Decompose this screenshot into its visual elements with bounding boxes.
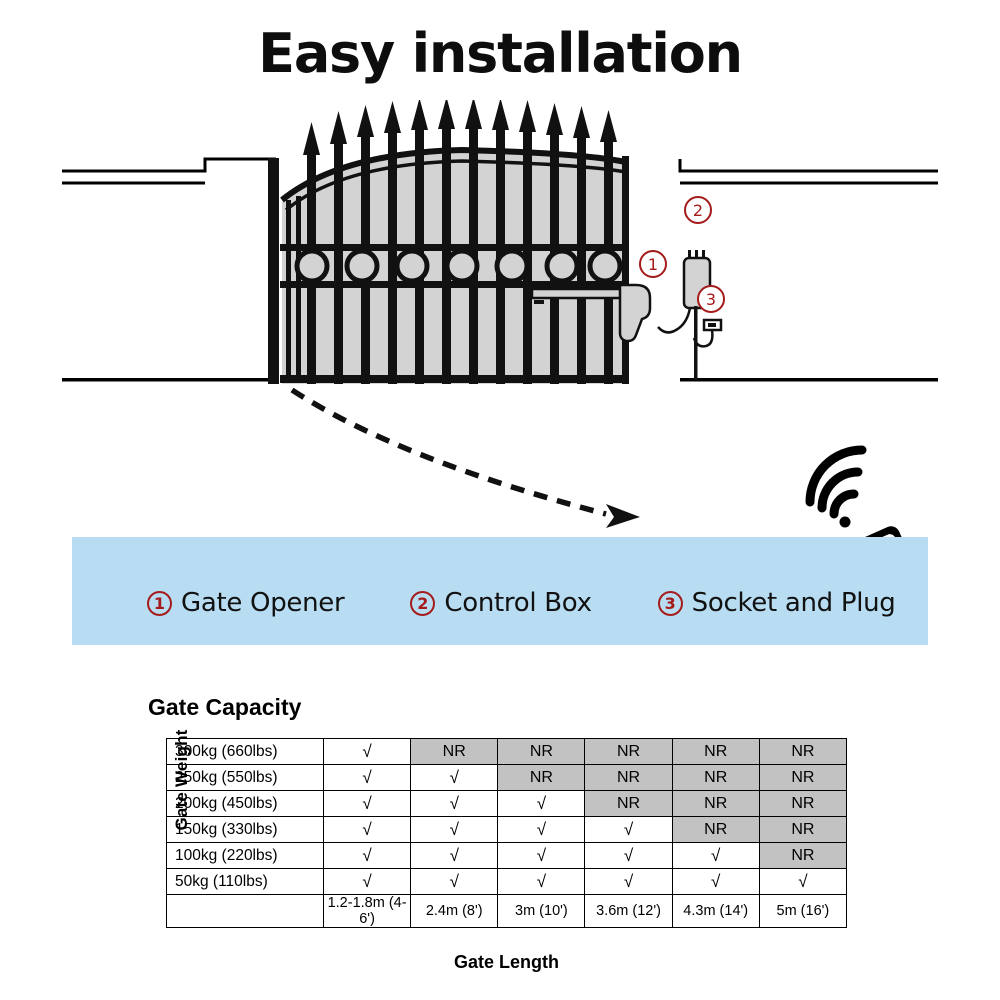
- legend-item-control-box: 2 Control Box: [410, 588, 591, 618]
- cell-supported: √: [411, 765, 498, 791]
- cell-supported: √: [324, 843, 411, 869]
- cell-supported: √: [498, 791, 585, 817]
- cell-not-recommended: NR: [585, 765, 672, 791]
- cell-not-recommended: NR: [498, 739, 585, 765]
- cell-supported: √: [324, 739, 411, 765]
- column-header-cell: 4.3m (14'): [672, 895, 759, 928]
- wireless-signal-icon: [810, 450, 862, 528]
- cell-supported: √: [411, 869, 498, 895]
- legend-row: 1 Gate Opener 2 Control Box 3 Socket and…: [72, 583, 928, 623]
- legend-item-gate-opener: 1 Gate Opener: [147, 588, 344, 618]
- cell-supported: √: [324, 869, 411, 895]
- cell-not-recommended: NR: [672, 765, 759, 791]
- row-header-cell: 50kg (110lbs): [167, 869, 324, 895]
- cell-supported: √: [498, 869, 585, 895]
- cell-supported: √: [324, 817, 411, 843]
- cell-not-recommended: NR: [759, 791, 846, 817]
- table-row: 100kg (220lbs)√√√√√NR: [167, 843, 847, 869]
- cell-supported: √: [324, 765, 411, 791]
- right-wall: [680, 159, 938, 183]
- cell-not-recommended: NR: [759, 739, 846, 765]
- table-row: 300kg (660lbs)√NRNRNRNRNR: [167, 739, 847, 765]
- x-axis-label: Gate Length: [166, 952, 847, 973]
- gate-panel: [280, 100, 629, 384]
- legend-label-3: Socket and Plug: [692, 588, 896, 618]
- cell-not-recommended: NR: [411, 739, 498, 765]
- cell-supported: √: [498, 843, 585, 869]
- table-row: 50kg (110lbs)√√√√√√: [167, 869, 847, 895]
- legend-number-3: 3: [658, 591, 683, 616]
- table-body: 300kg (660lbs)√NRNRNRNRNR250kg (550lbs)√…: [167, 739, 847, 928]
- column-header-cell: 3.6m (12'): [585, 895, 672, 928]
- cell-not-recommended: NR: [498, 765, 585, 791]
- cell-supported: √: [672, 843, 759, 869]
- column-header-cell: 2.4m (8'): [411, 895, 498, 928]
- remote-control-icon: [810, 450, 985, 540]
- table-title: Gate Capacity: [148, 694, 301, 721]
- cell-not-recommended: NR: [672, 791, 759, 817]
- installation-illustration: 1 2 3: [0, 100, 1000, 540]
- table-row: 150kg (330lbs)√√√√NRNR: [167, 817, 847, 843]
- table-footer-row: 1.2-1.8m (4-6')2.4m (8')3m (10')3.6m (12…: [167, 895, 847, 928]
- svg-text:2: 2: [693, 201, 703, 220]
- gate-swing-arrow-icon: [292, 390, 640, 528]
- table-row: 250kg (550lbs)√√NRNRNRNR: [167, 765, 847, 791]
- y-axis-label: Gate Weight: [172, 700, 192, 860]
- left-wall: [62, 159, 276, 183]
- legend-item-socket-and-plug: 3 Socket and Plug: [658, 588, 896, 618]
- cell-not-recommended: NR: [672, 739, 759, 765]
- legend-label-1: Gate Opener: [181, 588, 344, 618]
- column-header-cell: 3m (10'): [498, 895, 585, 928]
- column-header-cell: 5m (16'): [759, 895, 846, 928]
- marker-badge-1: 1: [640, 251, 666, 277]
- column-header-cell: 1.2-1.8m (4-6'): [324, 895, 411, 928]
- cell-supported: √: [498, 817, 585, 843]
- cell-not-recommended: NR: [672, 817, 759, 843]
- hinge-post: [268, 158, 279, 384]
- legend-number-1: 1: [147, 591, 172, 616]
- legend-number-2: 2: [410, 591, 435, 616]
- socket-plug-device: [694, 320, 721, 346]
- svg-text:1: 1: [648, 255, 658, 274]
- footer-corner-cell: [167, 895, 324, 928]
- cell-not-recommended: NR: [585, 791, 672, 817]
- cell-supported: √: [411, 817, 498, 843]
- cell-not-recommended: NR: [585, 739, 672, 765]
- cell-supported: √: [585, 817, 672, 843]
- cell-supported: √: [324, 791, 411, 817]
- cell-not-recommended: NR: [759, 817, 846, 843]
- marker-badge-3: 3: [698, 286, 724, 312]
- cell-supported: √: [672, 869, 759, 895]
- cell-supported: √: [759, 869, 846, 895]
- cell-not-recommended: NR: [759, 843, 846, 869]
- legend-label-2: Control Box: [444, 588, 591, 618]
- svg-text:3: 3: [706, 290, 716, 309]
- table-row: 200kg (450lbs)√√√NRNRNR: [167, 791, 847, 817]
- marker-badge-2: 2: [685, 197, 711, 223]
- cell-supported: √: [411, 843, 498, 869]
- cell-supported: √: [585, 869, 672, 895]
- page-title: Easy installation: [0, 22, 1000, 85]
- cell-supported: √: [411, 791, 498, 817]
- gate-capacity-table: 300kg (660lbs)√NRNRNRNRNR250kg (550lbs)√…: [166, 738, 847, 928]
- cell-not-recommended: NR: [759, 765, 846, 791]
- cell-supported: √: [585, 843, 672, 869]
